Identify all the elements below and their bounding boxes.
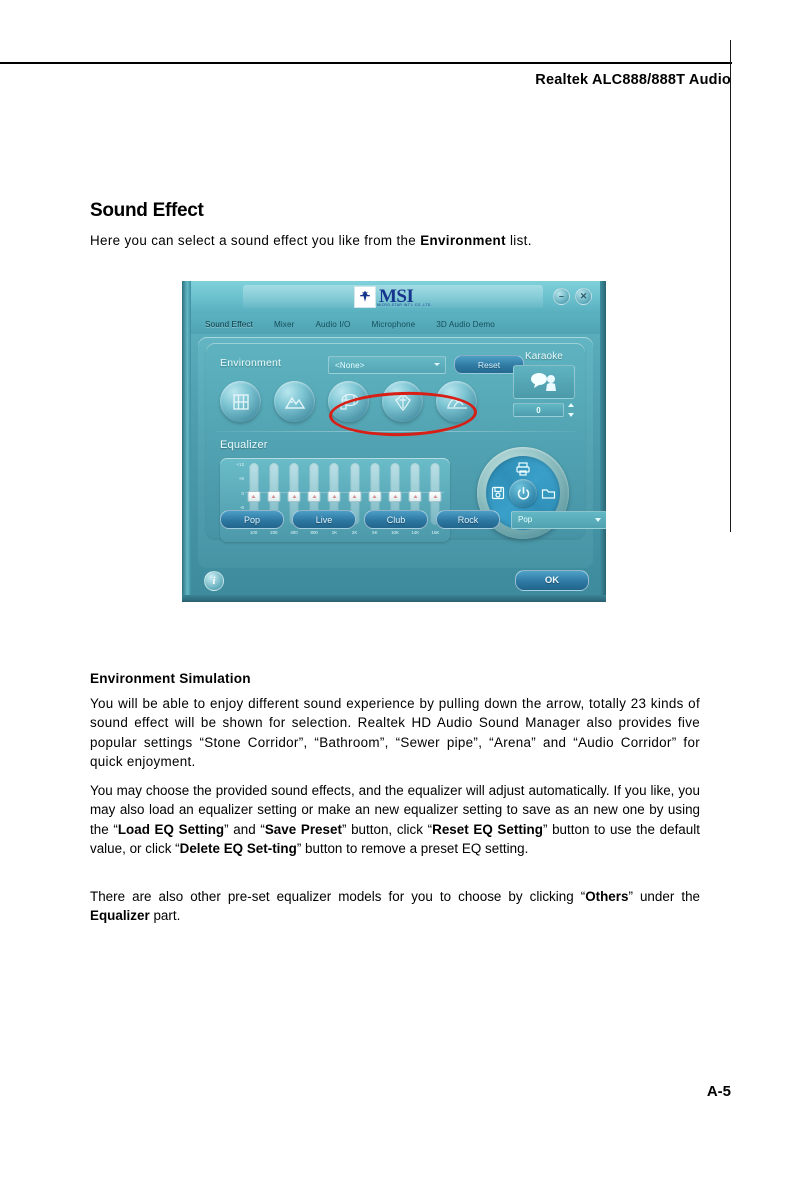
intro-paragraph: Here you can select a sound effect you l… xyxy=(90,232,700,250)
stone-corridor-icon[interactable] xyxy=(382,381,423,422)
sewer-pipe-icon[interactable] xyxy=(328,381,369,422)
equalizer-band-labels: 100 200 400 800 1K 2K 5K 10K 14K 16K xyxy=(245,528,444,537)
p3-text-2: ” under the xyxy=(628,889,700,904)
page-number: A-5 xyxy=(707,1083,731,1100)
msi-shield-icon xyxy=(354,286,376,308)
section-divider xyxy=(216,431,575,432)
eq-thumb[interactable] xyxy=(267,491,280,502)
band-label-200: 200 xyxy=(265,528,282,537)
intro-text-1: Here you can select a sound effect you l… xyxy=(90,233,420,248)
intro-bold-environment: Environment xyxy=(420,233,506,248)
document-page: Realtek ALC888/888T Audio Sound Effect H… xyxy=(0,0,788,1179)
opera-house-icon[interactable] xyxy=(436,381,477,422)
band-label-100: 100 xyxy=(245,528,262,537)
scale-label-zero: 0 xyxy=(224,492,244,497)
band-label-5k: 5K xyxy=(366,528,383,537)
eq-thumb[interactable] xyxy=(389,491,402,502)
scale-label-plus12: +12 xyxy=(224,463,244,468)
eq-thumb[interactable] xyxy=(308,491,321,502)
right-margin-rule xyxy=(730,40,731,532)
bathroom-icon[interactable] xyxy=(220,381,261,422)
tab-sound-effect[interactable]: Sound Effect xyxy=(205,320,253,329)
stepper-down-icon[interactable] xyxy=(568,413,574,417)
karaoke-label: Karaoke xyxy=(513,351,575,362)
environment-preset-icons xyxy=(220,381,477,422)
chevron-down-icon xyxy=(595,518,601,522)
realtek-audio-manager-screenshot: MSI MICRO-STAR INT'L CO.,LTD. – ✕ Sound … xyxy=(182,281,606,602)
tab-mixer[interactable]: Mixer xyxy=(274,320,295,329)
stepper-up-icon[interactable] xyxy=(568,403,574,407)
environment-label: Environment xyxy=(220,357,281,369)
p3-bold-equalizer: Equalizer xyxy=(90,908,150,923)
p2-text-3: ” button, click “ xyxy=(342,822,432,837)
window-controls: – ✕ xyxy=(553,288,592,305)
scale-label-plus6: +6 xyxy=(224,477,244,482)
band-label-1k: 1K xyxy=(326,528,343,537)
equalizer-label: Equalizer xyxy=(220,439,268,451)
window-bottom-edge xyxy=(182,595,606,602)
minimize-button[interactable]: – xyxy=(553,288,570,305)
window-right-edge xyxy=(600,281,606,602)
p2-text-5: ” button to remove a preset EQ setting. xyxy=(297,841,529,856)
environment-dropdown[interactable]: <None> xyxy=(328,356,446,374)
tab-audio-io[interactable]: Audio I/O xyxy=(315,320,350,329)
power-icon[interactable] xyxy=(509,479,537,507)
others-preset-value: Pop xyxy=(512,515,532,524)
p2-bold-reset-eq-setting: Reset EQ Setting xyxy=(432,822,543,837)
preset-club-button[interactable]: Club xyxy=(364,510,428,529)
p3-text-3: part. xyxy=(150,908,181,923)
save-preset-icon[interactable] xyxy=(489,484,507,502)
load-eq-setting-icon[interactable] xyxy=(539,484,557,502)
app-footer: i OK xyxy=(198,569,593,593)
band-label-800: 800 xyxy=(306,528,323,537)
eq-thumb[interactable] xyxy=(368,491,381,502)
sound-effect-panel: Environment <None> Reset xyxy=(206,343,585,538)
header-rule xyxy=(0,62,732,64)
tab-microphone[interactable]: Microphone xyxy=(372,320,416,329)
karaoke-stepper-arrows[interactable] xyxy=(566,403,575,417)
chevron-down-icon xyxy=(434,363,440,366)
karaoke-panel: Karaoke 0 xyxy=(513,351,575,417)
eq-thumb[interactable] xyxy=(409,491,422,502)
preset-pop-button[interactable]: Pop xyxy=(220,510,284,529)
main-panel: Environment <None> Reset xyxy=(198,337,593,568)
window-left-edge xyxy=(182,281,191,602)
p2-bold-load-eq-setting: Load EQ Setting xyxy=(118,822,224,837)
band-label-10k: 10K xyxy=(386,528,403,537)
p2-text-2: ” and “ xyxy=(224,822,265,837)
p2-bold-save-preset: Save Preset xyxy=(265,822,342,837)
preset-rock-button[interactable]: Rock xyxy=(436,510,500,529)
others-preset-dropdown[interactable]: Pop xyxy=(511,511,606,529)
p3-bold-others: Others xyxy=(585,889,628,904)
karaoke-key-value: 0 xyxy=(513,403,564,417)
paragraph-equalizer-settings: You may choose the provided sound effect… xyxy=(90,781,700,859)
eq-thumb[interactable] xyxy=(288,491,301,502)
equalizer-preset-buttons: Pop Live Club Rock Pop xyxy=(220,510,606,529)
p3-text-1: There are also other pre-set equalizer m… xyxy=(90,889,585,904)
msi-tagline: MICRO-STAR INT'L CO.,LTD. xyxy=(377,303,432,307)
equalizer-panel: +12 +6 0 -6 -12 xyxy=(220,458,450,542)
page-title: Sound Effect xyxy=(90,200,204,222)
band-label-14k: 14K xyxy=(407,528,424,537)
voice-cancellation-icon[interactable] xyxy=(513,365,575,399)
paragraph-other-presets: There are also other pre-set equalizer m… xyxy=(90,887,700,926)
eq-thumb[interactable] xyxy=(328,491,341,502)
band-label-16k: 16K xyxy=(427,528,444,537)
reset-eq-setting-icon[interactable] xyxy=(513,460,533,478)
info-icon[interactable]: i xyxy=(204,571,224,591)
eq-thumb[interactable] xyxy=(247,491,260,502)
ok-button[interactable]: OK xyxy=(515,570,589,591)
karaoke-key-stepper[interactable]: 0 xyxy=(513,403,575,417)
p2-bold-delete-eq-setting: Delete EQ Set-ting xyxy=(180,841,297,856)
tab-bar: Sound Effect Mixer Audio I/O Microphone … xyxy=(191,314,600,334)
subsection-heading: Environment Simulation xyxy=(90,671,251,686)
intro-text-2: list. xyxy=(506,233,532,248)
eq-thumb[interactable] xyxy=(429,491,442,502)
page-header-title: Realtek ALC888/888T Audio xyxy=(535,72,731,88)
tab-3d-audio-demo[interactable]: 3D Audio Demo xyxy=(436,320,495,329)
band-label-400: 400 xyxy=(285,528,302,537)
msi-logo: MSI MICRO-STAR INT'L CO.,LTD. xyxy=(354,284,452,309)
band-label-2k: 2K xyxy=(346,528,363,537)
environment-selected-value: <None> xyxy=(329,361,365,370)
close-button[interactable]: ✕ xyxy=(575,288,592,305)
paragraph-environment-simulation: You will be able to enjoy different soun… xyxy=(90,694,700,772)
eq-thumb[interactable] xyxy=(348,491,361,502)
window-titlebar: MSI MICRO-STAR INT'L CO.,LTD. – ✕ xyxy=(191,281,600,314)
arena-icon[interactable] xyxy=(274,381,315,422)
preset-live-button[interactable]: Live xyxy=(292,510,356,529)
